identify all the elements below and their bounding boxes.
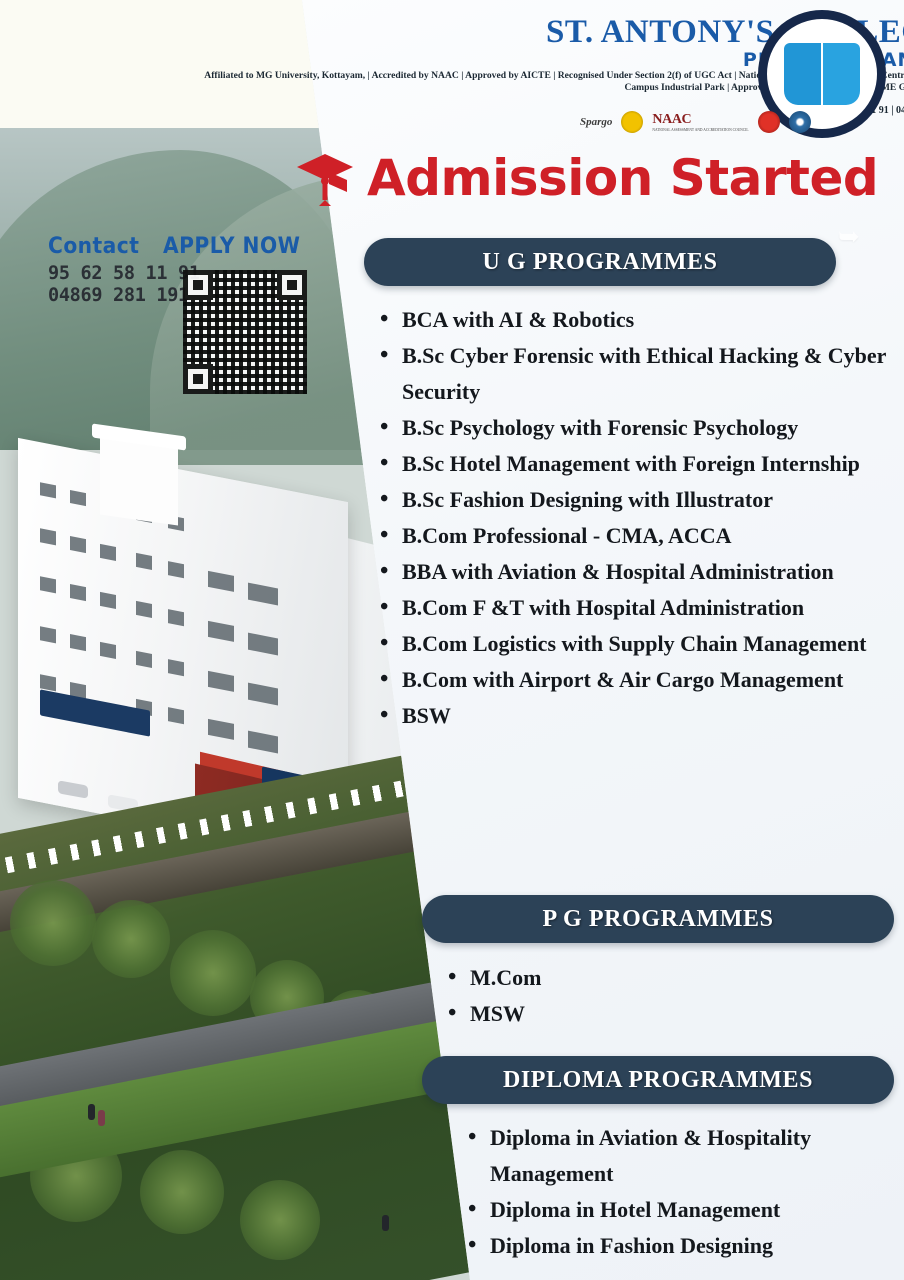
list-item: B.Sc Fashion Designing with Illustrator xyxy=(376,482,886,518)
list-item: Diploma in Hotel Management xyxy=(464,1192,894,1228)
page-title: Admission Started xyxy=(367,149,878,207)
list-item: B.Sc Psychology with Forensic Psychology xyxy=(376,410,886,446)
contact-label: Contact xyxy=(48,234,139,259)
admission-title-row: Admission Started xyxy=(295,142,895,214)
pg-programmes-list: M.Com MSW xyxy=(444,960,884,1032)
list-item: BCA with AI & Robotics xyxy=(376,302,886,338)
apply-now-label: APPLY NOW xyxy=(163,234,300,259)
contact-block: Contact APPLY NOW 95 62 58 11 91 04869 2… xyxy=(48,234,338,307)
list-item: B.Com with Airport & Air Cargo Managemen… xyxy=(376,662,886,698)
ug-banner-label: U G PROGRAMMES xyxy=(482,249,717,276)
arrow-decoration-icon: ➥ xyxy=(838,222,860,252)
ugc-badge xyxy=(789,111,811,133)
diploma-programmes-banner: DIPLOMA PROGRAMMES xyxy=(422,1056,894,1104)
list-item: B.Com F &T with Hospital Administration xyxy=(376,590,886,626)
diploma-programmes-list: Diploma in Aviation & Hospitality Manage… xyxy=(464,1120,894,1264)
list-item: BBA with Aviation & Hospital Administrat… xyxy=(376,554,886,590)
apply-now-qr-code[interactable] xyxy=(183,270,307,394)
list-item: B.Com Professional - CMA, ACCA xyxy=(376,518,886,554)
pg-banner-label: P G PROGRAMMES xyxy=(542,906,773,933)
admission-poster: ST. ANTONY'S COLLEGE PERUVANTHANAM Affil… xyxy=(0,0,904,1280)
iso-badge xyxy=(621,111,643,133)
ug-programmes-banner: U G PROGRAMMES xyxy=(364,238,836,286)
accreditation-badges: Spargo NAACNATIONAL ASSESSMENT AND ACCRE… xyxy=(580,111,811,133)
diploma-banner-label: DIPLOMA PROGRAMMES xyxy=(503,1067,813,1094)
naac-badge: NAACNATIONAL ASSESSMENT AND ACCREDITATIO… xyxy=(652,112,748,132)
pg-programmes-banner: P G PROGRAMMES xyxy=(422,895,894,943)
poster-header: ST. ANTONY'S COLLEGE PERUVANTHANAM Affil… xyxy=(200,8,904,136)
list-item: Diploma in Fashion Designing xyxy=(464,1228,894,1264)
open-book-icon xyxy=(784,43,860,105)
list-item: B.Sc Hotel Management with Foreign Inter… xyxy=(376,446,886,482)
aicte-badge xyxy=(758,111,780,133)
ug-programmes-list: BCA with AI & Robotics B.Sc Cyber Forens… xyxy=(376,302,886,734)
building-tower xyxy=(100,435,178,526)
list-item: Diploma in Aviation & Hospitality Manage… xyxy=(464,1120,894,1192)
list-item: B.Sc Cyber Forensic with Ethical Hacking… xyxy=(376,338,886,410)
list-item: MSW xyxy=(444,996,884,1032)
list-item: M.Com xyxy=(444,960,884,996)
spargo-badge: Spargo xyxy=(580,116,612,128)
graduation-cap-icon xyxy=(295,150,355,206)
list-item: B.Com Logistics with Supply Chain Manage… xyxy=(376,626,886,662)
list-item: BSW xyxy=(376,698,886,734)
